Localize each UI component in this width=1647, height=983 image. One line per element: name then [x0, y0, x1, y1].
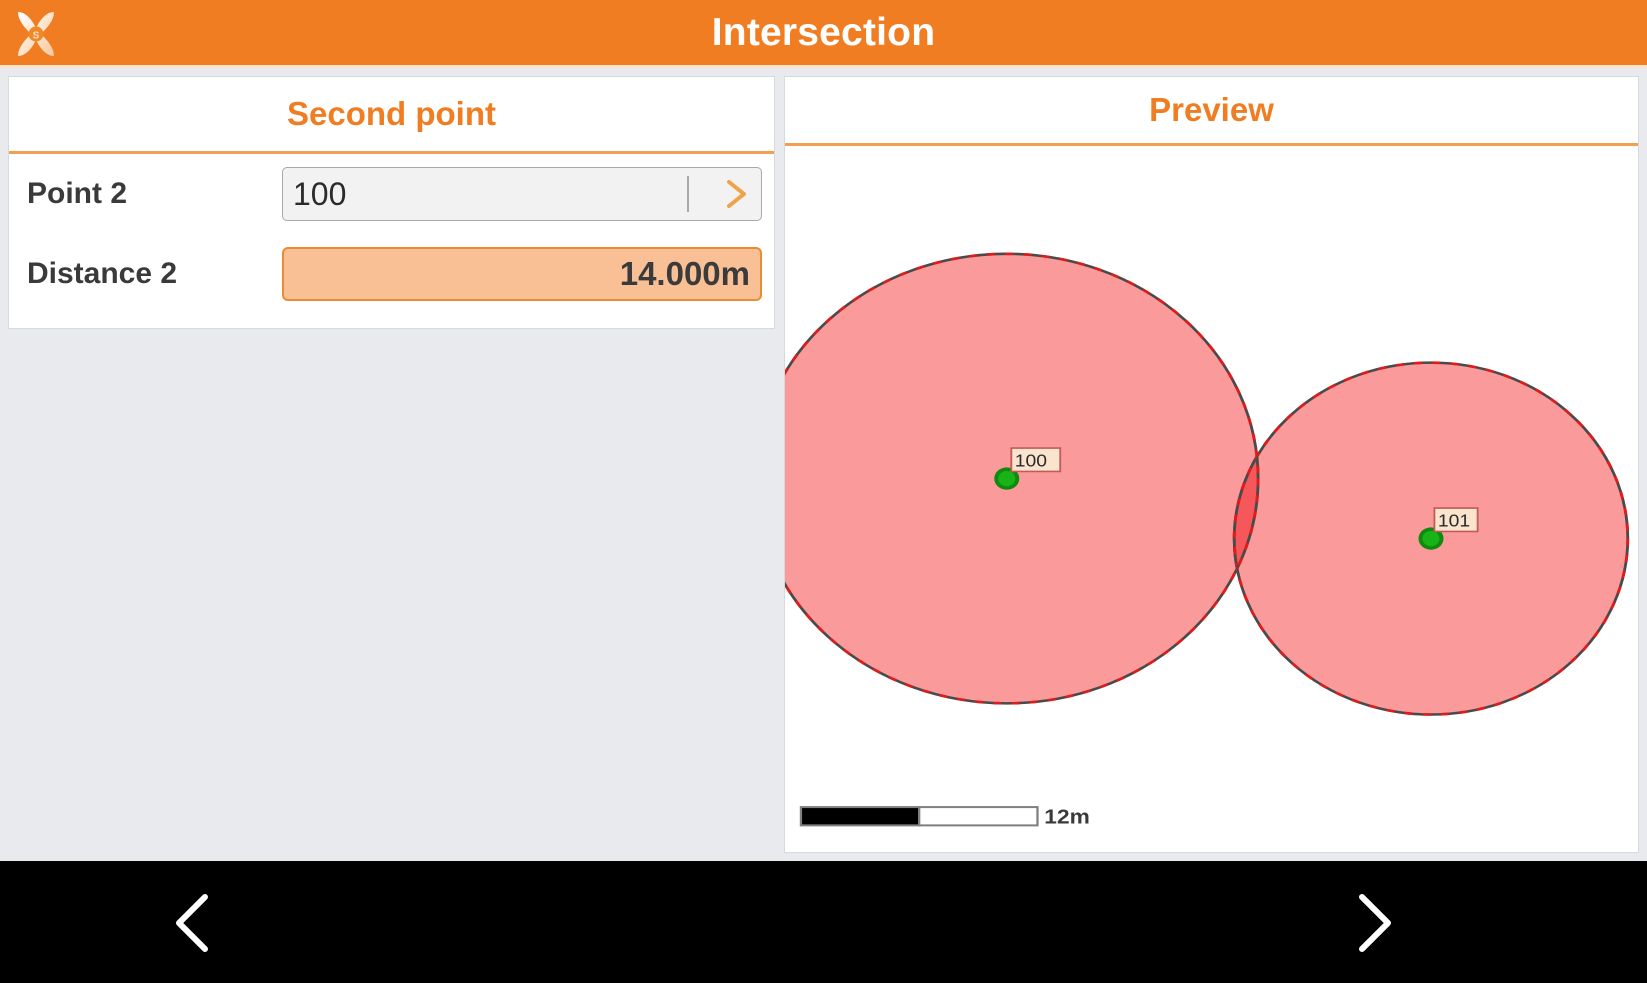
distance2-control: 14.000m	[282, 247, 762, 301]
chevron-right-icon[interactable]	[711, 174, 761, 214]
svg-text:S: S	[33, 31, 40, 42]
scale-bar: 12m	[801, 805, 1090, 829]
distance2-field[interactable]: 14.000m	[282, 247, 762, 301]
point2-value: 100	[293, 176, 687, 213]
intersection-app: S Intersection Second point Point 2 100	[0, 0, 1647, 983]
title-bar: S Intersection	[0, 0, 1647, 68]
second-point-card: Second point Point 2 100	[8, 76, 775, 329]
x-logo-icon[interactable]: S	[8, 6, 64, 62]
preview-drawing: 100 101 12m	[785, 146, 1638, 852]
distance2-value: 14.000m	[620, 255, 750, 293]
point2-control: 100	[282, 167, 762, 221]
content-area: Second point Point 2 100	[0, 68, 1647, 861]
point-label-101: 101	[1438, 511, 1470, 531]
combobox-separator	[687, 176, 689, 212]
chevron-right-icon[interactable]	[1287, 861, 1457, 983]
preview-header: Preview	[785, 77, 1638, 146]
page-title: Intersection	[0, 13, 1647, 52]
bottom-navigation-bar	[0, 861, 1647, 983]
scale-bar-label: 12m	[1044, 805, 1090, 829]
point2-combobox[interactable]: 100	[282, 167, 762, 221]
preview-card: Preview	[784, 76, 1639, 853]
field-row-point2: Point 2 100	[9, 154, 774, 234]
field-row-distance2: Distance 2 14.000m	[9, 234, 774, 314]
point2-label: Point 2	[27, 177, 282, 211]
preview-canvas[interactable]: 100 101 12m	[785, 146, 1638, 852]
distance2-label: Distance 2	[27, 257, 282, 291]
point-label-100: 100	[1015, 451, 1047, 471]
second-point-header: Second point	[9, 77, 774, 154]
left-column: Second point Point 2 100	[8, 76, 775, 853]
chevron-left-icon[interactable]	[110, 861, 280, 983]
